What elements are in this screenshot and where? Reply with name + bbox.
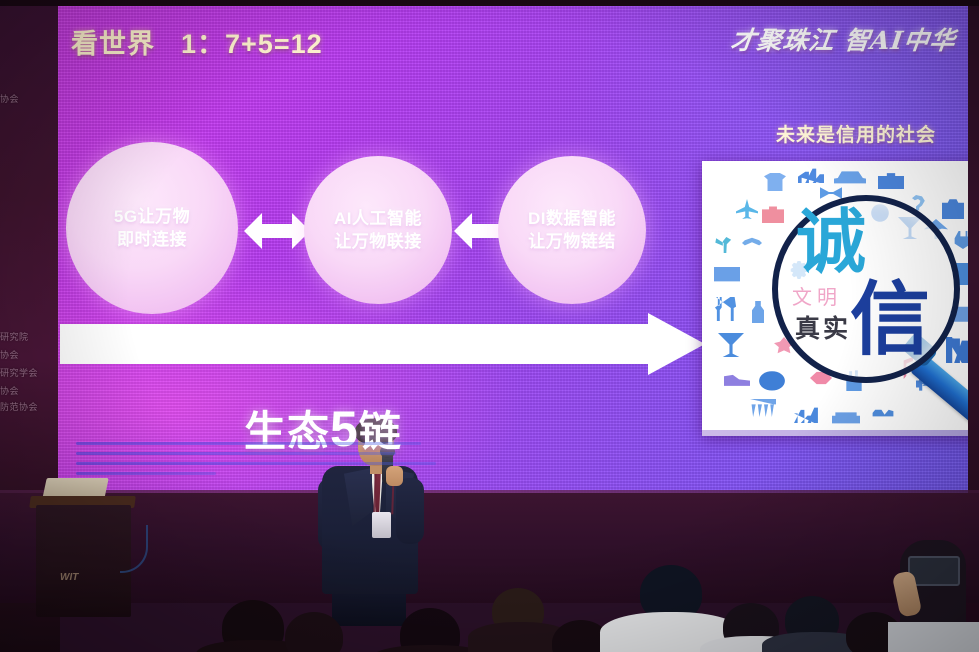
slide: 看世界1：7+5=12 才聚珠江 智AI中华 5G让万物 即时连接 AI人工智能… [58,6,968,493]
sofa-icon-2 [832,411,860,425]
airplane-icon [736,199,758,219]
slide-title: 看世界1：7+5=12 [71,22,323,61]
podium-logo: WIT [60,572,106,584]
speaker-badge [372,512,391,538]
slide-title-main: 看世界 [71,29,155,59]
bottle-icon [748,301,768,323]
slide-headline: 生态5链 [244,398,402,459]
bus-icon [714,265,740,285]
camera-icon [942,197,964,219]
concept-circle-ai-line1: AI人工智能 [334,207,422,230]
slide-body-line [76,442,421,445]
books-icon [946,337,968,363]
concept-circle-5g: 5G让万物 即时连接 [66,142,238,314]
double-arrow-icon [244,208,310,254]
word-zhenshi: 真实 [795,309,851,345]
slide-body-line [76,472,216,475]
led-presentation-screen: 看世界1：7+5=12 才聚珠江 智AI中华 5G让万物 即时连接 AI人工智能… [58,6,968,493]
word-xin: 信 [850,279,930,359]
banner-line-3: 协会 [0,348,19,361]
bicycle-icon [870,401,896,423]
concept-circle-di-line2: 让万物链结 [528,230,616,253]
tshirt-icon [764,173,786,191]
slide-body-line [76,452,396,455]
slide-headline-text: 生态 [244,408,330,455]
conference-photo: 协会 研究院 协会 研究学会 协会 防范协会 官美城 GUAN MEI CHEN… [0,0,979,652]
banner-line-6: 防范协会 [0,400,38,413]
comb-icon [750,399,776,417]
panel-heading: 未来是信用的社会 [706,120,968,147]
martini-icon [718,333,744,357]
concept-circle-di-line1: DI数据智能 [528,207,616,230]
slide-headline-tail: 链 [359,408,402,455]
chart-icon [794,407,820,423]
wifi-icon [742,235,762,255]
phone-user-shoulders [888,622,979,652]
podium [36,505,131,617]
credit-society-image-card: 诚 信 文明 真实 [702,161,968,436]
concept-circle-5g-line1: 5G让万物 [114,205,190,228]
cutlery-icon [714,297,738,321]
slide-title-formula: 1：7+5=12 [181,29,323,59]
mouse-icon [758,369,786,391]
right-arrow-icon [60,313,705,375]
event-slogan: 才聚珠江 智AI中华 [729,21,958,57]
plant-icon [714,233,736,253]
slide-headline-number: 5 [330,401,359,457]
banner-line-2: 研究院 [0,330,29,343]
slide-body-line [76,462,436,465]
bar-chart-icon [798,167,824,183]
banner-line-4: 研究学会 [0,366,38,379]
suitcase-icon [762,205,784,223]
plug-icon [952,231,968,249]
shoe-icon [724,367,750,389]
concept-circle-5g-line2: 即时连接 [117,228,187,251]
banner-line-1: 协会 [0,92,19,105]
concept-circle-ai-line2: 让万物联接 [334,230,422,253]
toolbox-icon [878,171,904,189]
banner-line-5: 协会 [0,384,19,397]
card-footer-bar [702,430,968,436]
image-canvas: 诚 信 文明 真实 [702,161,968,436]
car-icon [834,167,866,187]
word-wenming: 文明 [792,281,842,310]
concept-circle-ai: AI人工智能 让万物联接 [304,156,452,304]
word-cheng: 诚 [796,207,866,277]
concept-circle-di: DI数据智能 让万物链结 [498,156,646,304]
speaker-legs [332,590,406,626]
